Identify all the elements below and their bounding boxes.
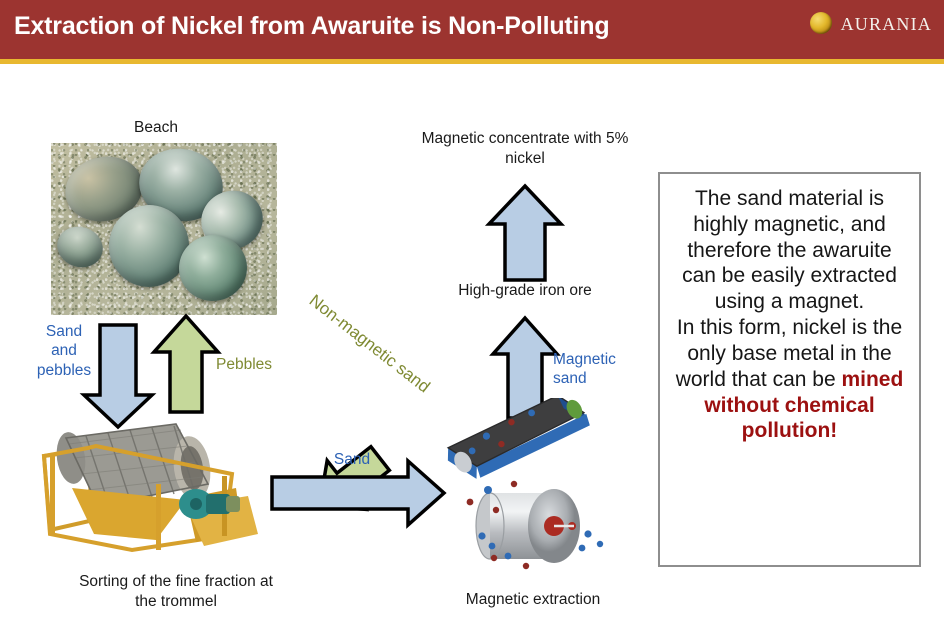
label-magnetic-concentrate: Magnetic concentrate with 5% nickel	[409, 129, 641, 169]
brand-logo: Aurania	[810, 9, 932, 37]
beach-label: Beach	[96, 118, 216, 137]
label-pebbles: Pebbles	[216, 355, 316, 374]
arrow-non-magnetic-sand	[300, 434, 399, 530]
magnetic-concentrate-text: Magnetic concentrate	[422, 130, 570, 147]
label-magnetic-sand: Magnetic sand	[553, 350, 643, 389]
label-sand: Sand	[312, 450, 392, 469]
info-box: The sand material is highly magnetic, an…	[658, 172, 921, 567]
info-paragraph-2: In this form, nickel is the only base me…	[670, 315, 909, 444]
arrow-sand	[272, 461, 444, 525]
trommel-photo	[36, 410, 281, 555]
info-paragraph-1: The sand material is highly magnetic, an…	[670, 186, 909, 315]
beach-photo	[51, 143, 277, 315]
label-sand-and-pebbles: Sand and pebbles	[18, 322, 110, 380]
caption-trommel: Sorting of the fine fraction at the trom…	[26, 572, 326, 612]
brand-name: Aurania	[841, 9, 932, 37]
page-title: Extraction of Nickel from Awaruite is No…	[14, 12, 609, 41]
gold-nugget-icon	[810, 12, 832, 34]
arrow-magnetic-concentrate	[489, 186, 561, 280]
separator-photo	[442, 398, 627, 573]
arrow-pebbles	[154, 316, 218, 412]
label-high-grade-iron-ore: High-grade iron ore	[425, 281, 625, 300]
caption-separator: Magnetic extraction	[418, 590, 648, 609]
header-gold-rule	[0, 59, 944, 64]
